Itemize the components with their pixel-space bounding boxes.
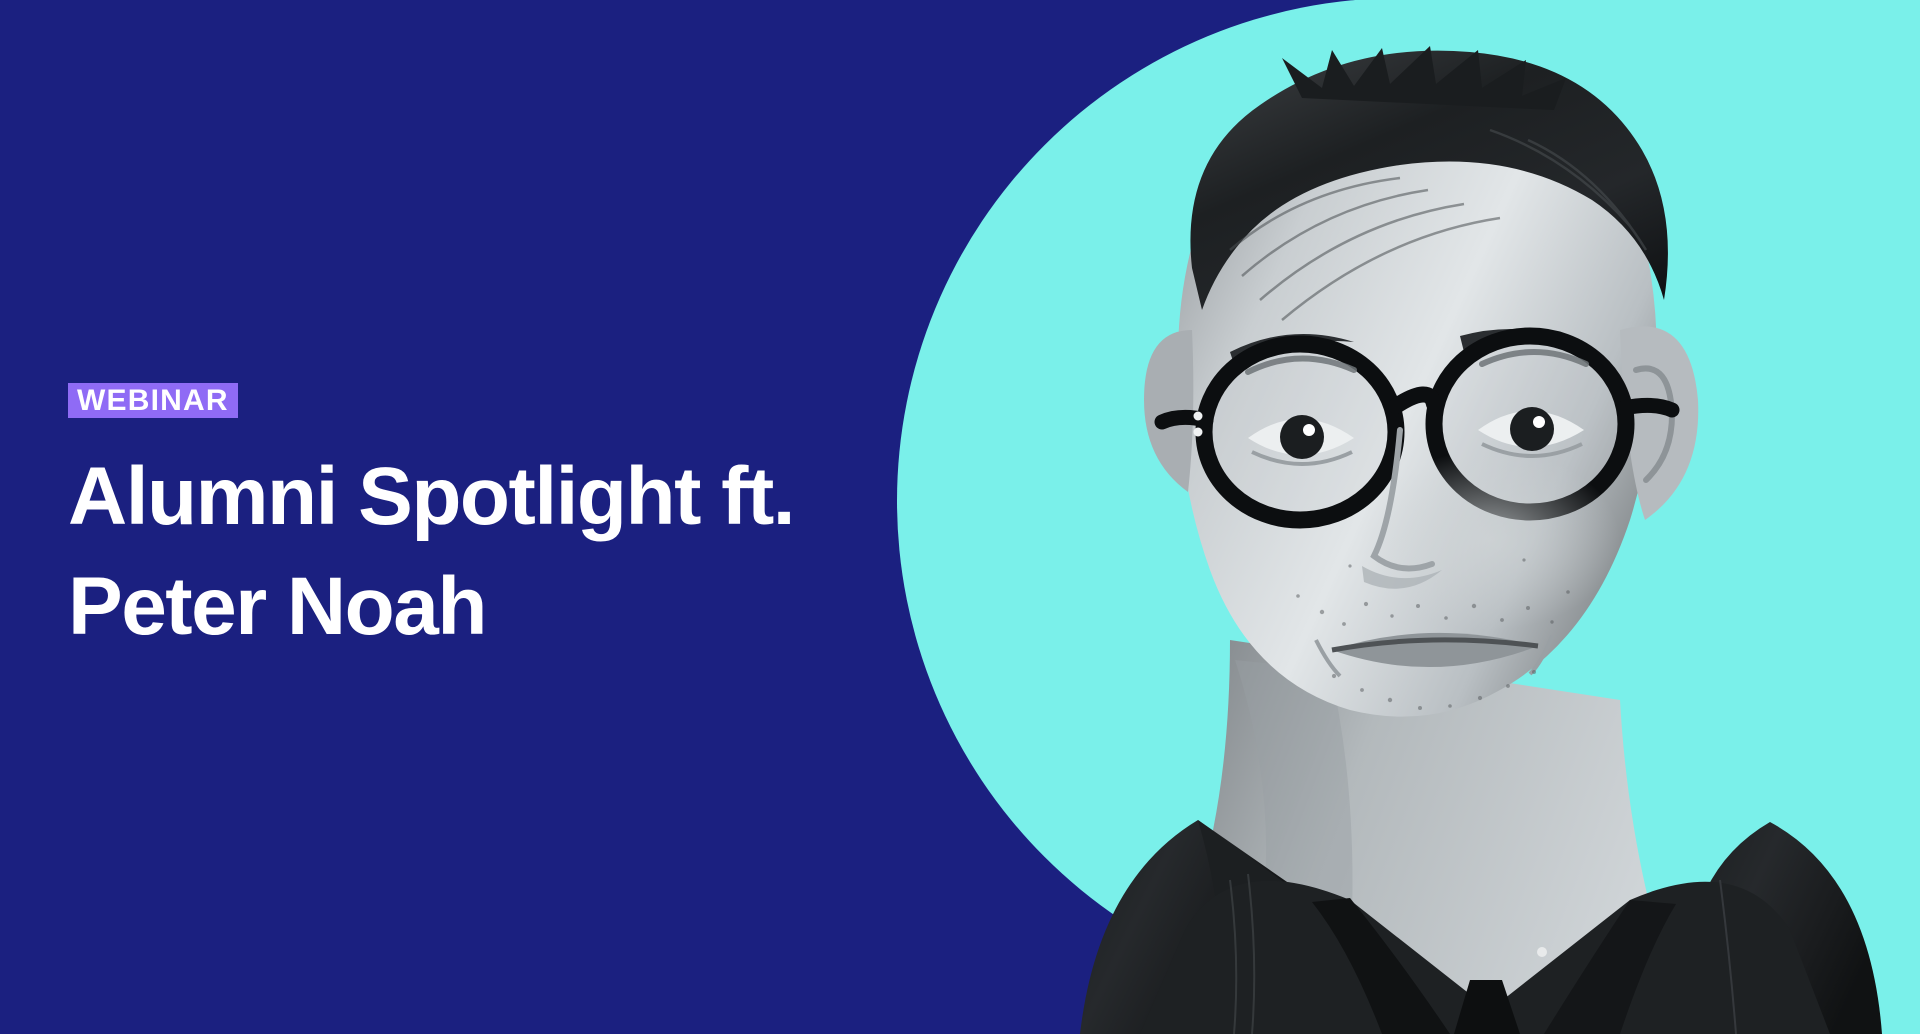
page-title: Alumni Spotlight ft. Peter Noah [68,442,868,662]
speaker-portrait [930,0,1920,1034]
status-badge: WEBINAR [68,383,238,418]
webinar-banner: WEBINAR Alumni Spotlight ft. Peter Noah [0,0,1920,1034]
banner-text-block: WEBINAR Alumni Spotlight ft. Peter Noah [68,383,868,662]
